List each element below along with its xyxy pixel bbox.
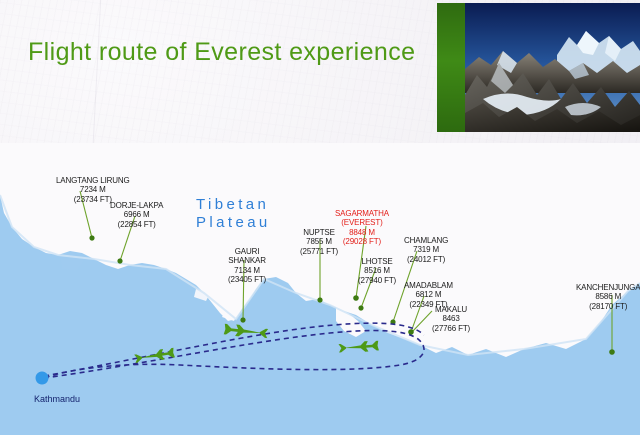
peak-label-sagarmatha-everest: SAGARMATHA (EVEREST) 8848 M (29028 FT) [335,209,389,247]
peak-dot-gauri-shankar [240,317,245,322]
peak-height-m: 6966 M [110,210,163,219]
peak-name: KANCHENJUNGA [576,283,640,292]
peak-name: AMADABLAM [404,281,453,290]
peak-label-dorje-lakpa: DORJE-LAKPA 6966 M (22854 FT) [110,201,163,229]
peak-dot-dorje-lakpa [117,258,122,263]
peak-height-ft: (27940 FT) [358,276,396,285]
peak-dot-langtang-lirung [89,235,94,240]
peak-dot-kanchenjunga [609,349,615,355]
peak-name: LHOTSE [358,257,396,266]
peak-height-ft: (27766 FT) [432,324,470,333]
peak-dot-amadablam [408,329,414,335]
photo-artwork [465,3,640,132]
peak-height-m: 7234 M [56,185,130,194]
peak-name: SAGARMATHA [335,209,389,218]
peak-height-m: 8516 M [358,266,396,275]
peak-height-m: 8848 M [335,228,389,237]
peak-name: CHAMLANG [404,236,448,245]
peak-dot-nuptse [317,297,322,302]
peak-dot-lhotse [358,305,363,310]
peak-height-m: 7134 M [228,266,266,275]
peak-height-m: 8586 M [576,292,640,301]
photo-accent-bar [437,3,465,132]
peak-height-ft: (29028 FT) [335,237,389,246]
city-marker-kathmandu [36,372,49,385]
peak-height-ft: (25771 FT) [300,247,338,256]
peak-dot-sagarmatha [353,295,359,301]
photo-inset [437,3,640,132]
peak-label-nuptse: NUPTSE 7855 M (25771 FT) [300,228,338,256]
peak-height-m: 8463 [432,314,470,323]
peak-label-kanchenjunga: KANCHENJUNGA 8586 M (28170 FT) [576,283,640,311]
peak-name: MAKALU [432,305,470,314]
peak-name-line1: GAURI [228,247,266,256]
peak-name-alt: (EVEREST) [335,218,389,227]
peak-height-ft: (22854 FT) [110,220,163,229]
city-label-kathmandu: Kathmandu [34,394,80,404]
peak-label-gauri-shankar: GAURI SHANKAR 7134 M (23405 FT) [228,247,266,285]
region-label-line2: Plateau [196,214,271,232]
peak-name-line2: SHANKAR [228,256,266,265]
peak-height-m: 6812 M [404,290,453,299]
page-title: Flight route of Everest experience [28,38,415,67]
peak-name: LANGTANG LIRUNG [56,176,130,185]
peak-name: NUPTSE [300,228,338,237]
poster-canvas: Flight route of Everest experience [0,0,640,435]
peak-label-lhotse: LHOTSE 8516 M (27940 FT) [358,257,396,285]
peak-height-m: 7319 M [404,245,448,254]
peak-label-chamlang: CHAMLANG 7319 M (24012 FT) [404,236,448,264]
peak-height-ft: (24012 FT) [404,255,448,264]
peak-height-ft: (23405 FT) [228,275,266,284]
peak-height-ft: (28170 FT) [576,302,640,311]
region-label-line1: Tibetan [196,196,271,214]
region-label-tibetan-plateau: Tibetan Plateau [196,196,271,232]
himalaya-aerial-photo [465,3,640,132]
peak-label-langtang-lirung: LANGTANG LIRUNG 7234 M (23734 FT) [56,176,130,204]
peak-label-makalu: MAKALU 8463 (27766 FT) [432,305,470,333]
peak-name: DORJE-LAKPA [110,201,163,210]
peak-height-m: 7855 M [300,237,338,246]
